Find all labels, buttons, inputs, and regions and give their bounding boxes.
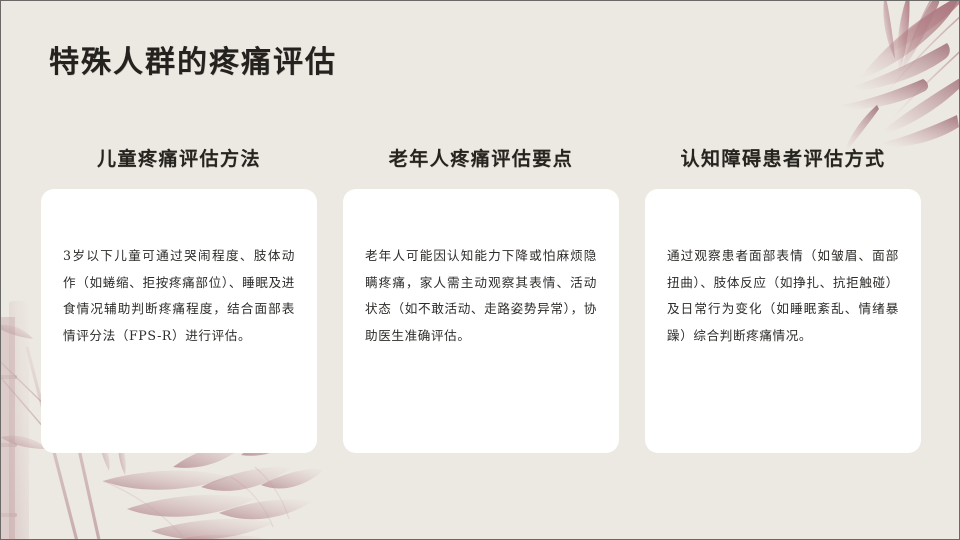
columns-container: 儿童疼痛评估方法 3岁以下儿童可通过哭闹程度、肢体动作（如蜷缩、拒按疼痛部位）、… xyxy=(41,144,921,453)
card-elderly[interactable]: 老年人可能因认知能力下降或怕麻烦隐瞒疼痛，家人需主动观察其表情、活动状态（如不敢… xyxy=(343,189,619,453)
column-elderly: 老年人疼痛评估要点 老年人可能因认知能力下降或怕麻烦隐瞒疼痛，家人需主动观察其表… xyxy=(343,144,619,453)
card-body-children: 3岁以下儿童可通过哭闹程度、肢体动作（如蜷缩、拒按疼痛部位）、睡眠及进食情况辅助… xyxy=(63,243,295,349)
page-title: 特殊人群的疼痛评估 xyxy=(49,37,337,81)
column-heading-children: 儿童疼痛评估方法 xyxy=(97,144,261,171)
card-body-elderly: 老年人可能因认知能力下降或怕麻烦隐瞒疼痛，家人需主动观察其表情、活动状态（如不敢… xyxy=(365,243,597,349)
slide-canvas: 特殊人群的疼痛评估 儿童疼痛评估方法 3岁以下儿童可通过哭闹程度、肢体动作（如蜷… xyxy=(0,0,960,540)
card-children[interactable]: 3岁以下儿童可通过哭闹程度、肢体动作（如蜷缩、拒按疼痛部位）、睡眠及进食情况辅助… xyxy=(41,189,317,453)
column-heading-elderly: 老年人疼痛评估要点 xyxy=(389,144,574,171)
card-body-cognitive-impairment: 通过观察患者面部表情（如皱眉、面部扭曲）、肢体反应（如挣扎、抗拒触碰）及日常行为… xyxy=(667,243,899,349)
card-cognitive-impairment[interactable]: 通过观察患者面部表情（如皱眉、面部扭曲）、肢体反应（如挣扎、抗拒触碰）及日常行为… xyxy=(645,189,921,453)
column-cognitive-impairment: 认知障碍患者评估方式 通过观察患者面部表情（如皱眉、面部扭曲）、肢体反应（如挣扎… xyxy=(645,144,921,453)
column-heading-cognitive-impairment: 认知障碍患者评估方式 xyxy=(680,144,885,171)
column-children: 儿童疼痛评估方法 3岁以下儿童可通过哭闹程度、肢体动作（如蜷缩、拒按疼痛部位）、… xyxy=(41,144,317,453)
